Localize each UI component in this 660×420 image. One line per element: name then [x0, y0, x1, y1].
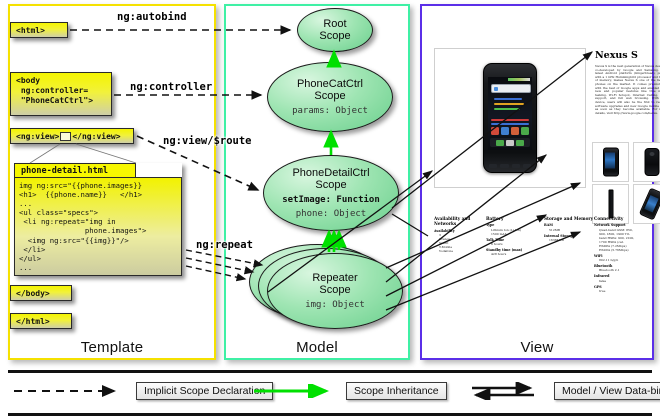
phone-dock-icon-3: [516, 140, 524, 146]
model-panel-label: Model: [226, 339, 408, 356]
spec-column-connectivity: Connectivity Network Support Quad-band G…: [594, 216, 644, 293]
phone-dock: [490, 138, 530, 147]
spec-header-storage: Storage and Memory: [544, 216, 596, 221]
repeater-scope-line1: Repeater: [312, 272, 357, 284]
spec-header-connectivity: Connectivity: [594, 216, 644, 221]
phone-app-icon-2: [501, 127, 509, 135]
spec-value: 16384MB: [544, 238, 596, 242]
code-tag-body-open: <body ng:controller= "PhoneCatCtrl">: [10, 72, 112, 116]
phone-app-icon-4: [521, 127, 529, 135]
code-tag-html-close: </html>: [10, 313, 72, 329]
legend-green-arrow-icon: [250, 384, 338, 398]
root-scope-line1: Root: [323, 18, 346, 30]
phone-widget-line-1: [494, 98, 522, 100]
phone-device-illustration: [483, 63, 537, 173]
root-scope-line2: Scope: [319, 30, 350, 42]
phonedetailctrl-scope-line1: PhoneDetailCtrl: [292, 167, 369, 179]
ng-view-slot-icon: [60, 132, 71, 141]
phone-hero-image-frame: [434, 48, 586, 188]
spec-column-battery: Battery Type Lithium Ion (Li-Ion) 1500 m…: [486, 216, 538, 256]
phonecatctrl-scope-line2: Scope: [314, 90, 345, 102]
phonecatctrl-scope-property: params: Object: [292, 106, 368, 117]
spec-value: 1500 mAh: [486, 232, 538, 236]
spec-value: 6 hours: [486, 242, 538, 246]
product-description: Nexus S is the next generation of Nexus …: [595, 65, 660, 115]
phone-widget-line-2: [494, 103, 524, 105]
legend-label-scope-inheritance: Scope Inheritance: [346, 382, 447, 400]
legend-item-model-view-data-binding: Model / View Data-binding: [468, 382, 660, 400]
phone-app-icon-3: [511, 127, 519, 135]
thumbnail-phone-back-icon: [644, 148, 659, 176]
phone-widget-line-3: [494, 108, 520, 110]
spec-value: true: [594, 289, 644, 293]
legend-divider-top: [8, 370, 652, 373]
product-title: Nexus S: [595, 50, 638, 61]
spec-header-availability: Availability and Networks: [434, 216, 476, 227]
label-ng-controller: ng:controller: [130, 81, 212, 93]
spec-value: 512MB: [544, 228, 596, 232]
phonedetailctrl-scope-property-phone: phone: Object: [296, 209, 366, 220]
spec-value: false: [594, 279, 644, 283]
code-tag-body-close: </body>: [10, 285, 72, 301]
phonedetailctrl-scope: PhoneDetailCtrlScope setImage: Function …: [263, 155, 399, 231]
rendered-view-page: Nexus S Nexus S is the next generation o…: [430, 20, 644, 338]
legend-item-scope-inheritance: Scope Inheritance: [250, 382, 447, 400]
template-panel-label: Template: [10, 339, 214, 356]
spec-value: HSUPA (5.76Mbps): [594, 248, 644, 252]
spec-value: 802.11 b/g/n: [594, 258, 644, 262]
phone-app-icon-1: [491, 127, 499, 135]
spec-header-battery: Battery: [486, 216, 538, 221]
phone-statusbar-icon: [508, 78, 530, 81]
phone-app-icon-row: [491, 127, 529, 135]
repeater-scope: RepeaterScope img: Object: [267, 253, 403, 329]
thumbnail-phone-front[interactable]: [592, 142, 629, 182]
phone-widget-line-4: [491, 119, 529, 121]
thumbnail-phone-front-icon: [603, 148, 619, 177]
ng-view-open: <ng:view>: [16, 132, 59, 141]
spec-value: Vodafone: [434, 249, 476, 253]
repeater-scope-line2: Scope: [319, 284, 350, 296]
repeater-scope-property: img: Object: [305, 300, 365, 311]
legend-label-model-view-data-binding: Model / View Data-binding: [554, 382, 660, 400]
label-ng-view-route: ng:view/$route: [163, 135, 252, 147]
phonedetailctrl-scope-property-setimage: setImage: Function: [282, 195, 380, 206]
legend-dashed-arrow-icon: [10, 384, 128, 398]
phone-search-widget-icon: [491, 84, 531, 93]
legend-item-implicit-scope-declaration: Implicit Scope Declaration: [10, 382, 273, 400]
code-tag-html-open: <html>: [10, 22, 68, 38]
phone-hardware-keys: [489, 164, 531, 170]
thumbnail-phone-side-icon: [608, 190, 613, 219]
phone-dock-icon-2: [506, 140, 514, 146]
spec-value: Bluetooth 2.1: [594, 268, 644, 272]
diagram-root: Template <html> <body ng:controller= "Ph…: [0, 0, 660, 420]
view-panel-label: View: [422, 339, 652, 356]
root-scope: RootScope: [297, 8, 373, 52]
phone-detail-code: img ng:src="{{phone.images}} <h1> {{phon…: [14, 177, 182, 276]
phone-dock-icon-1: [496, 140, 504, 146]
code-tag-ng-view: <ng:view></ng:view>: [10, 128, 134, 144]
phone-detail-filename: phone-detail.html: [14, 163, 136, 178]
spec-column-availability: Availability and Networks Availability 3…: [434, 216, 476, 253]
thumbnail-phone-back[interactable]: [633, 142, 660, 182]
phone-screen: [488, 77, 532, 150]
spec-value: 428 hours: [486, 252, 538, 256]
legend-divider-bottom: [8, 413, 652, 416]
ng-view-close: </ng:view>: [72, 132, 120, 141]
phonedetailctrl-scope-line2: Scope: [315, 179, 346, 191]
phonecatctrl-scope-line1: PhoneCatCtrl: [297, 78, 363, 90]
phonecatctrl-scope: PhoneCatCtrlScope params: Object: [267, 62, 393, 132]
phone-widget-line-5: [491, 123, 529, 125]
label-ng-repeat: ng:repeat: [196, 239, 253, 251]
legend-double-arrow-icon: [468, 382, 546, 400]
spec-column-storage: Storage and Memory RAM 512MB Internal St…: [544, 216, 596, 242]
spec-table: Availability and Networks Availability 3…: [434, 216, 642, 308]
phone-detail-template-card: phone-detail.html img ng:src="{{phone.im…: [14, 163, 182, 276]
label-ng-autobind: ng:autobind: [117, 11, 187, 23]
